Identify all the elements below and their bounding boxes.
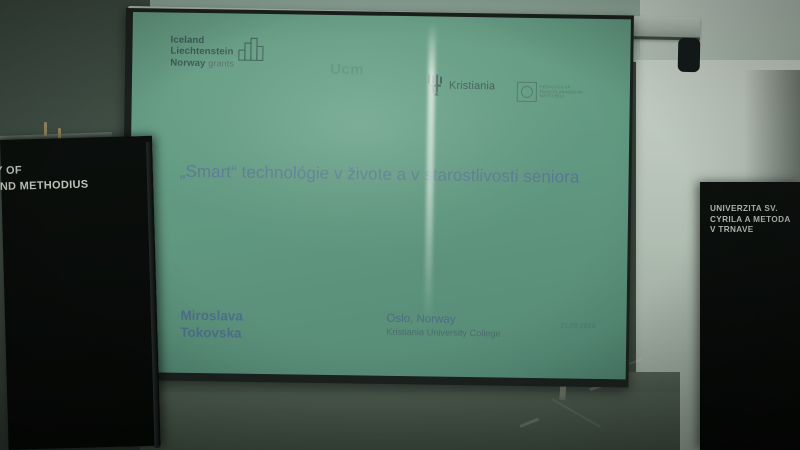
slide-date: 21.09.2023	[560, 322, 595, 330]
presenter-last-name: Tokovska	[180, 324, 243, 342]
ucm-banner-english: ITY OF . AND METHODIUS VA	[0, 136, 161, 450]
slide-logo-row: Iceland Liechtenstein Norway grants Ucm	[132, 24, 631, 103]
conference-room-scene: Iceland Liechtenstein Norway grants Ucm	[0, 0, 800, 450]
eea-line-norway: Norway grants	[170, 57, 234, 69]
ucm-banner-slovak: UNIVERZITA SV. CYRILA A METODA V TRNAVE	[700, 182, 800, 450]
kristiania-crest-icon	[428, 74, 445, 96]
location-institution: Kristiania University College	[386, 326, 501, 340]
presentation-slide: Iceland Liechtenstein Norway grants Ucm	[128, 12, 631, 379]
eea-line-liechtenstein: Liechtenstein	[170, 46, 234, 58]
slide-location-block: Oslo, Norway Kristiania University Colle…	[386, 312, 501, 340]
eea-grants-bars-icon	[238, 37, 264, 61]
eea-line-iceland: Iceland	[171, 35, 235, 47]
projector-screen: Iceland Liechtenstein Norway grants Ucm	[128, 12, 631, 379]
coat-hook	[44, 122, 47, 136]
umb-pedagogical-faculty-logo: PEDAGOGICKÁ FAKULTA UNIVERZITA MATEJ BEL…	[517, 82, 583, 103]
presenter-name: Miroslava Tokovska	[180, 307, 243, 342]
umb-wordmark: PEDAGOGICKÁ FAKULTA UNIVERZITA MATEJ BEL…	[540, 85, 583, 99]
eea-grants-logo: Iceland Liechtenstein Norway grants	[170, 35, 264, 71]
eea-grants-wordmark: Iceland Liechtenstein Norway grants	[170, 35, 234, 70]
slide-title: „Smart“ technológie v živote a v starost…	[172, 159, 586, 190]
kristiania-wordmark: Kristiania	[449, 80, 495, 93]
eea-grants-suffix: grants	[208, 58, 234, 68]
ucm-banner-slovak-text: UNIVERZITA SV. CYRILA A METODA V TRNAVE	[710, 204, 800, 236]
kristiania-logo: Kristiania	[428, 74, 496, 97]
lower-wall-lower	[120, 392, 680, 450]
ucm-logo: Ucm	[330, 61, 364, 78]
projector-screen-roller-cap	[678, 38, 701, 72]
presenter-first-name: Miroslava	[180, 307, 243, 325]
ucm-banner-english-text: ITY OF . AND METHODIUS VA	[0, 160, 156, 211]
umb-seal-icon	[517, 82, 537, 102]
